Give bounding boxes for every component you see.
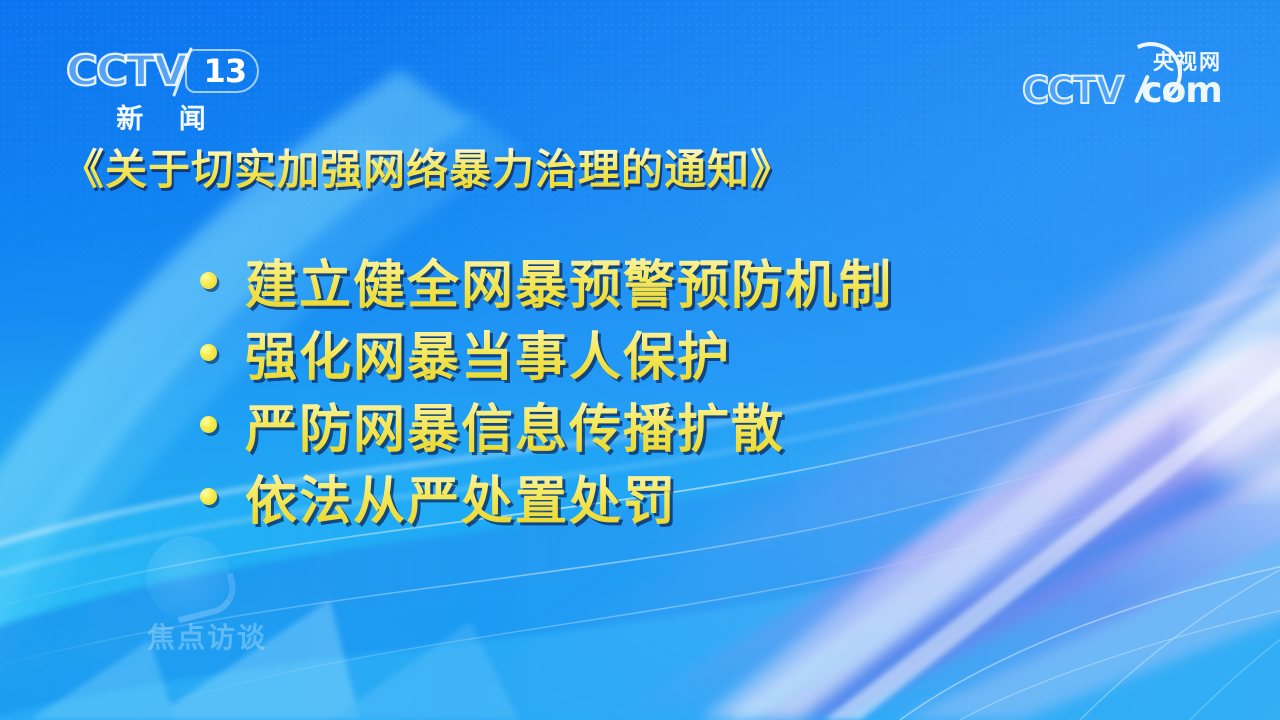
cctv-com-suffix: com — [1141, 72, 1222, 110]
bullet-dot-icon — [200, 416, 217, 433]
cctv-com-wordmark: CCTV — [1022, 72, 1122, 110]
list-item: 强化网暴当事人保护 — [200, 320, 893, 384]
bullet-dot-icon — [200, 344, 217, 361]
list-item: 严防网暴信息传播扩散 — [200, 392, 893, 456]
cctv13-logo-row: CCTV 13 — [66, 48, 271, 94]
channel-name-label: 新 闻 — [66, 97, 256, 136]
cctv13-logo: CCTV 13 新 闻 — [66, 48, 271, 140]
page-title: 《关于切实加强网络暴力治理的通知》 — [62, 136, 793, 197]
cctv-com-wordmark-row: CCTV com — [1022, 72, 1222, 110]
list-item-label: 建立健全网暴预警预防机制 — [245, 243, 893, 318]
bullet-dot-icon — [200, 488, 217, 505]
list-item: 建立健全网暴预警预防机制 — [200, 248, 893, 312]
channel-number: 13 — [185, 49, 255, 93]
cctv-com-chinese-name: 央视网 — [1153, 46, 1222, 76]
channel-number-badge: 13 — [185, 49, 259, 93]
bullet-dot-icon — [200, 272, 217, 289]
bullet-list: 建立健全网暴预警预防机制 强化网暴当事人保护 严防网暴信息传播扩散 依法从严处置… — [200, 248, 893, 528]
list-item-label: 依法从严处置处罚 — [245, 459, 677, 534]
list-item-label: 严防网暴信息传播扩散 — [245, 387, 785, 462]
broadcast-graphic-frame: CCTV 13 新 闻 CCTV com 央视网 《关于切实加强网络暴力治理的通… — [0, 0, 1280, 720]
list-item: 依法从严处置处罚 — [200, 464, 893, 528]
list-item-label: 强化网暴当事人保护 — [245, 315, 731, 390]
cctv-com-logo: CCTV com 央视网 — [1022, 44, 1222, 112]
cctv-wordmark: CCTV — [66, 48, 185, 94]
